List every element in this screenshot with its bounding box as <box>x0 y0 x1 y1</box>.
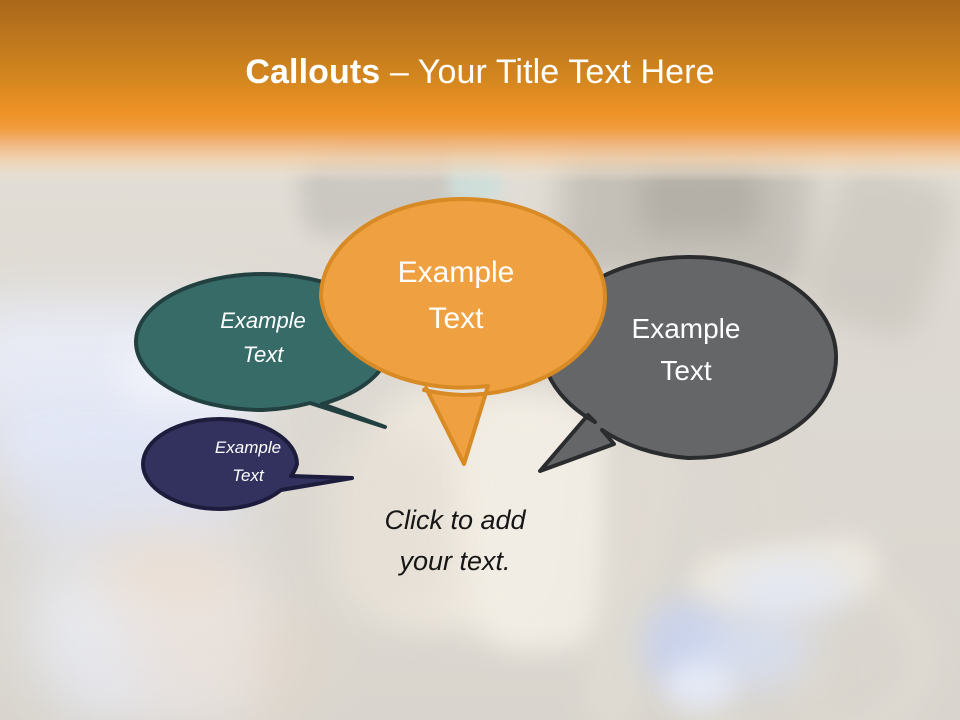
slide-canvas: Callouts – Your Title Text Here Example … <box>0 0 960 720</box>
page-title-bold: Callouts <box>245 53 380 91</box>
caption-placeholder[interactable]: Click to add your text. <box>320 500 590 582</box>
callout-orange-shape <box>318 196 608 468</box>
page-title: Callouts – Your Title Text Here <box>0 50 960 94</box>
background-blue-highlight <box>730 560 850 620</box>
page-title-rest: – Your Title Text Here <box>380 53 714 91</box>
background-warm-blur <box>120 600 320 720</box>
background-blue-highlight <box>665 660 735 710</box>
callout-orange[interactable]: Example Text <box>318 196 608 468</box>
